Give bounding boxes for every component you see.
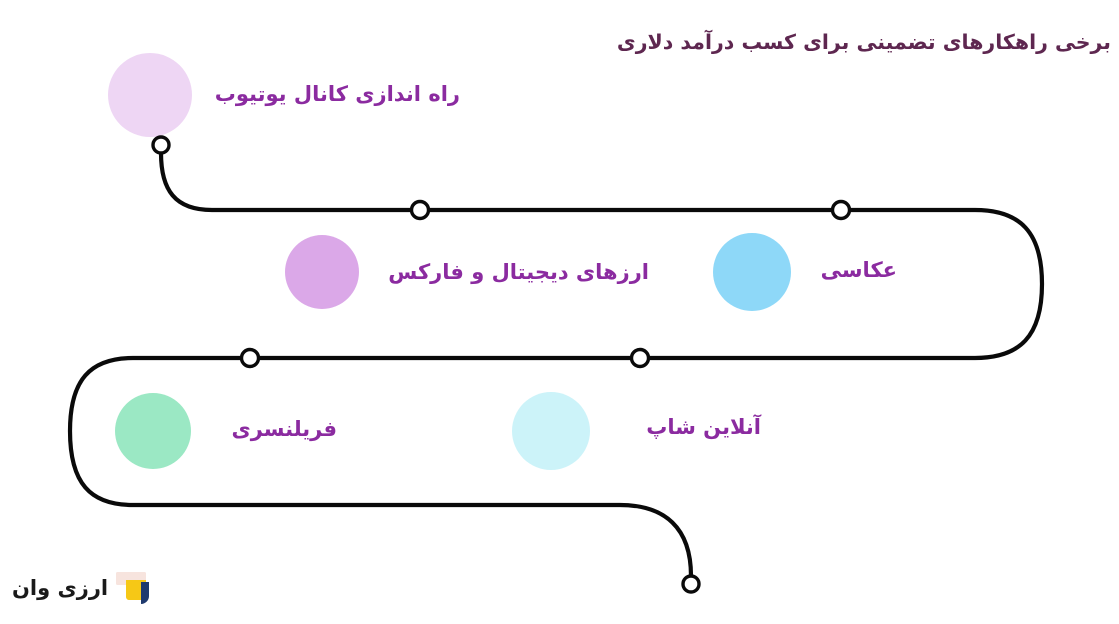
brand-logo: ارزی وان: [12, 570, 155, 606]
node-top-mid: [412, 202, 429, 219]
infographic-canvas: برخی راهکارهای تضمینی برای کسب درآمد دلا…: [0, 0, 1119, 624]
node-bottom-left: [242, 350, 259, 367]
label-freelancing: فریلنسری: [231, 419, 337, 440]
node-end: [683, 576, 699, 592]
label-photography: عکاسی: [821, 260, 897, 281]
brand-logo-icon: [115, 570, 155, 606]
node-bottom-mid: [632, 350, 649, 367]
logo-wedge-shape: [141, 582, 149, 604]
page-title: برخی راهکارهای تضمینی برای کسب درآمد دلا…: [617, 32, 1111, 53]
label-online-shop: آنلاین شاپ: [646, 417, 761, 438]
timeline-path: [70, 153, 1042, 576]
label-youtube-channel: راه اندازی کانال یوتیوب: [215, 84, 460, 105]
label-crypto-forex: ارزهای دیجیتال و فارکس: [388, 262, 649, 283]
blob-freelancing: [115, 393, 191, 469]
blob-youtube-channel: [108, 53, 192, 137]
brand-logo-text: ارزی وان: [12, 578, 108, 599]
node-top-right: [833, 202, 850, 219]
blob-crypto-forex: [285, 235, 359, 309]
blob-online-shop: [512, 392, 590, 470]
blob-photography: [713, 233, 791, 311]
node-start: [153, 137, 169, 153]
